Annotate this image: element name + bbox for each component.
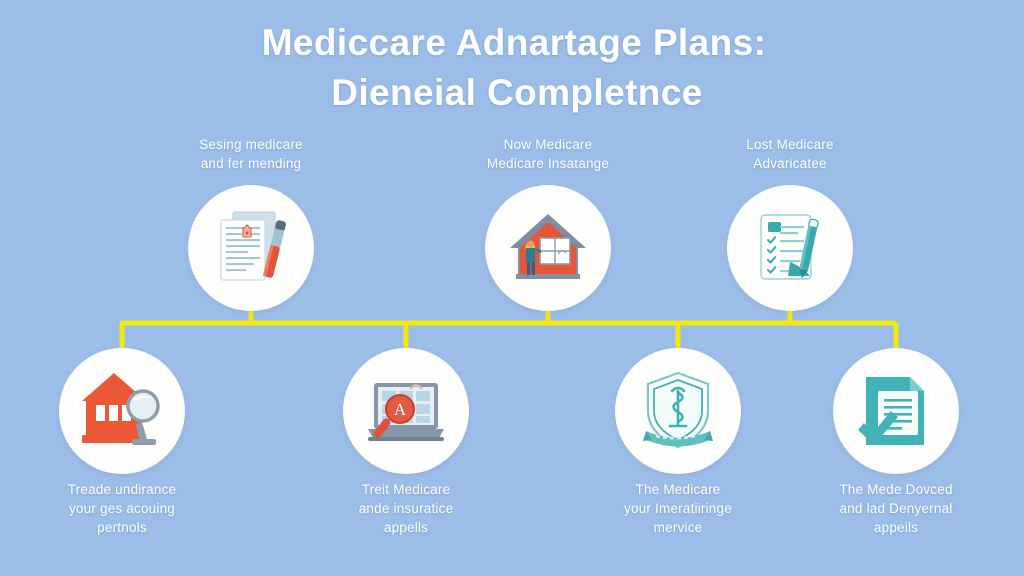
icon-bubble — [615, 348, 741, 474]
icon-bubble — [59, 348, 185, 474]
icon-bubble — [188, 185, 314, 311]
icon-bubble: A — [343, 348, 469, 474]
laptop-magnifier-icon: A — [360, 365, 452, 457]
node-caption: Treade undirance your ges acouing pertno… — [24, 480, 220, 537]
node-caption: Lost Medicare Advaricatee — [695, 135, 885, 173]
title-line-1: Mediccare Adnartage Plans: — [0, 18, 1024, 68]
node-caption: The Mede Dovced and lad Denyernal appeil… — [798, 480, 994, 537]
title-line-2: Dieneial Completnce — [0, 68, 1024, 118]
node-caption: Now Medicare Medicare Insatange — [453, 135, 643, 173]
document-check-icon — [850, 365, 942, 457]
infographic-canvas: Mediccare Adnartage Plans: Dieneial Comp… — [0, 0, 1024, 576]
house-magnifier-icon — [76, 365, 168, 457]
node-caption: Treit Medicare ande insuratice appells — [308, 480, 504, 537]
icon-bubble — [833, 348, 959, 474]
svg-text:A: A — [394, 400, 407, 419]
checklist-with-pen-icon — [744, 202, 836, 294]
house-with-worker-icon — [502, 202, 594, 294]
medical-shield-badge-icon — [632, 365, 724, 457]
page-title: Mediccare Adnartage Plans: Dieneial Comp… — [0, 18, 1024, 118]
node-caption: Sesing medicare and fer mending — [156, 135, 346, 173]
icon-bubble — [727, 185, 853, 311]
documents-with-pen-icon — [205, 202, 297, 294]
node-caption: The Medicare your Imeratiiringe mervice — [580, 480, 776, 537]
icon-bubble — [485, 185, 611, 311]
